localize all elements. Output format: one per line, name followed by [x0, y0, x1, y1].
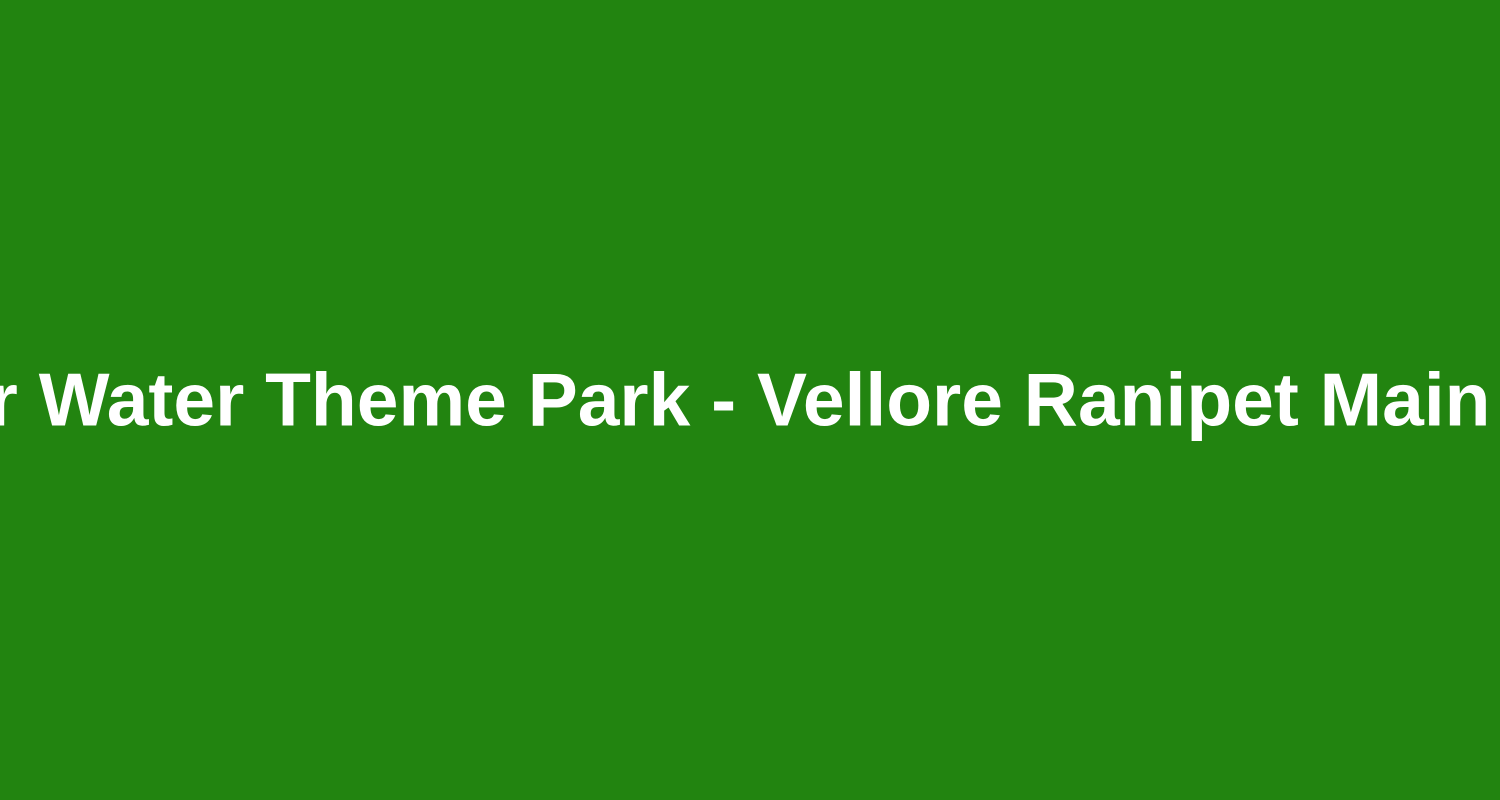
banner-title-row: Under Water Theme Park - Vellore Ranipet… — [0, 309, 1500, 491]
banner-screen: Under Water Theme Park - Vellore Ranipet… — [0, 0, 1500, 800]
page-title: Under Water Theme Park - Vellore Ranipet… — [0, 360, 1500, 441]
